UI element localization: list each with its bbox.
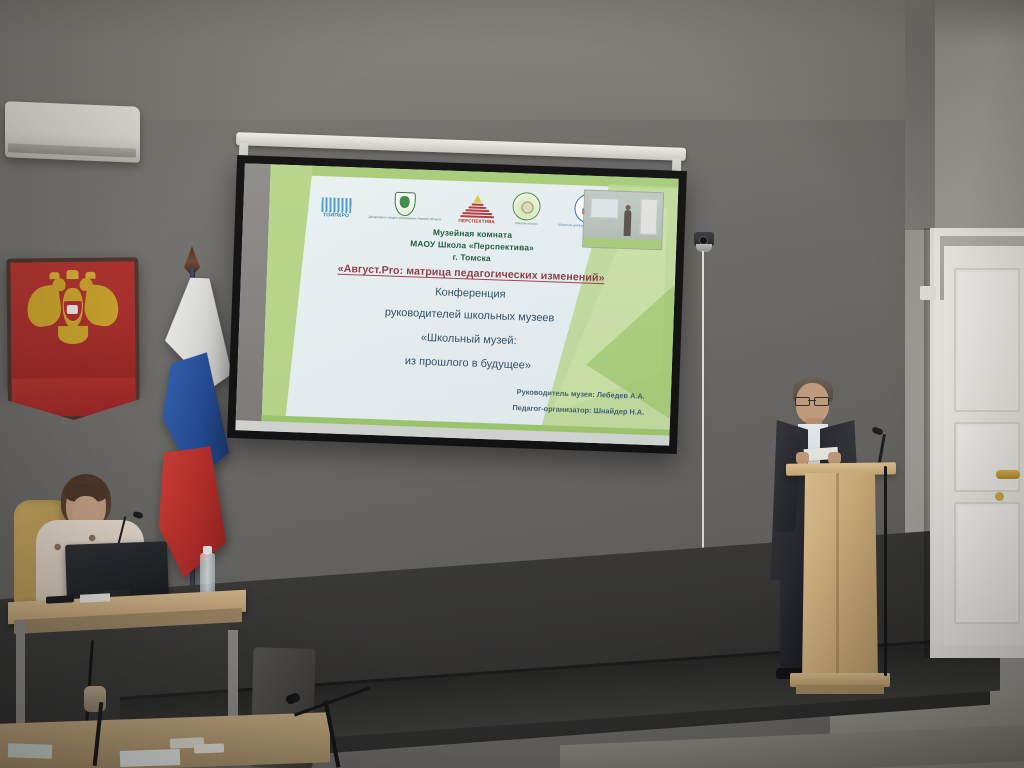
- door-panel-top: [954, 268, 1020, 412]
- door-lock[interactable]: [995, 492, 1004, 501]
- slide-logo-row: ТОИПКРО Департамент общего образования Т…: [321, 178, 622, 229]
- door-handle[interactable]: [996, 470, 1020, 479]
- podium: [802, 473, 878, 679]
- camera-cable: [702, 251, 704, 581]
- toipkro-logo: ТОИПКРО: [321, 197, 352, 219]
- floor-surface: [560, 725, 1024, 768]
- podium-cable: [884, 466, 887, 676]
- door-panel-middle: [954, 422, 1020, 492]
- ceiling-shadow: [0, 0, 1024, 46]
- video-conference-thumbnail: [582, 189, 664, 250]
- remote-control-2[interactable]: [194, 743, 224, 753]
- screen-surface: ТОИПКРО Департамент общего образования Т…: [235, 163, 678, 445]
- thumbnail-screen: [590, 198, 619, 219]
- desk-leg-left: [16, 620, 25, 725]
- door[interactable]: [944, 246, 1024, 646]
- thumbnail-door: [640, 199, 658, 236]
- slide-left-accent: [261, 164, 313, 432]
- thumbnail-person-body: [624, 210, 632, 236]
- speaker-hand-left: [796, 452, 809, 464]
- projection-screen: ТОИПКРО Департамент общего образования Т…: [227, 155, 687, 454]
- podium-base-lower: [796, 685, 884, 694]
- flag-red-band: [157, 445, 230, 579]
- green-circle-emblem: Томская область: [512, 192, 541, 226]
- door-panel-bottom: [954, 502, 1020, 624]
- transom-hinge: [920, 286, 936, 300]
- foreground-papers-2: [8, 743, 52, 759]
- desk-modesty-panel: [24, 624, 230, 724]
- foreground-papers: [120, 749, 181, 767]
- tomsk-region-emblem: Департамент общего образования Томской о…: [368, 191, 441, 222]
- double-headed-eagle-icon: [24, 270, 121, 355]
- conference-room-photo: ТОИПКРО Департамент общего образования Т…: [0, 0, 1024, 768]
- perspektiva-logo: ПЕРСПЕКТИВА: [458, 194, 496, 224]
- camera-wall-mount: [696, 244, 712, 252]
- glasses-icon: [795, 397, 829, 404]
- russian-flag: [157, 277, 235, 579]
- air-conditioner: [5, 101, 140, 163]
- presentation-slide: ТОИПКРО Департамент общего образования Т…: [261, 164, 678, 445]
- russian-coat-of-arms-plaque: [6, 257, 139, 390]
- air-conditioner-vent: [8, 143, 136, 157]
- desk-papers: [80, 593, 110, 603]
- smartphone[interactable]: [46, 595, 74, 603]
- podium-edge: [836, 473, 839, 679]
- thumbnail-bottom-band: [583, 237, 661, 249]
